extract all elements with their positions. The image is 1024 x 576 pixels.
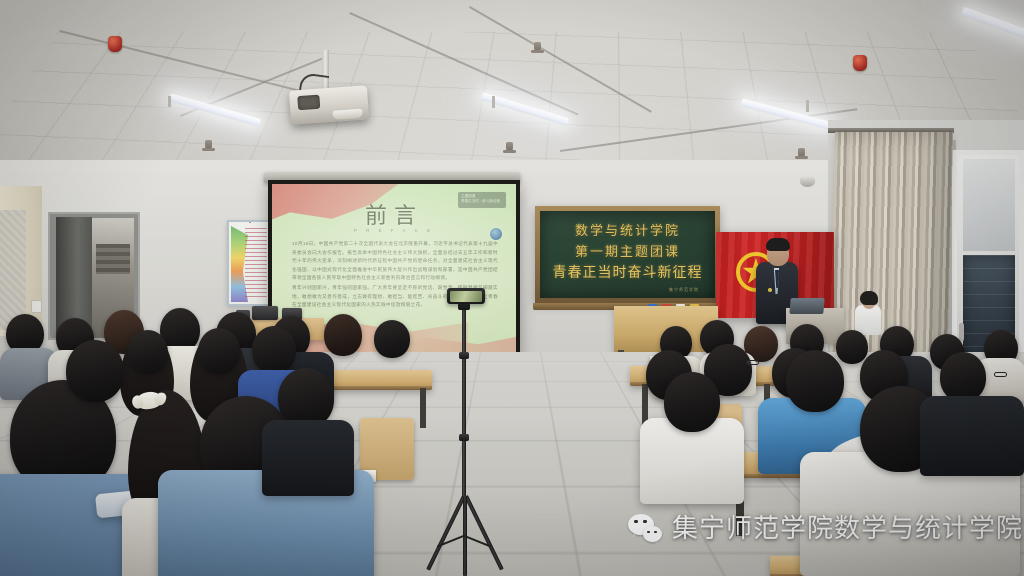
blackboard-surface: 数学与统计学院 第一期主题团课 青春正当时奋斗新征程 集宁师范学院 <box>540 211 715 298</box>
fire-alarm-icon-left <box>108 36 122 52</box>
light-hanger-2 <box>492 96 495 108</box>
sprinkler-icon-4 <box>798 148 805 159</box>
wechat-dot-1 <box>634 520 638 524</box>
security-camera-icon <box>800 176 815 187</box>
slide-tag-line2: 青春正当时 · 奋斗新征程 <box>461 199 503 204</box>
student-head-right-far-5 <box>836 330 868 364</box>
wechat-watermark: 集宁师范学院数学与统计学院 <box>628 508 1023 545</box>
slide-subtitle: P R E F A C E <box>272 228 516 233</box>
classroom-photo: 前言 P R E F A C E 10月16日，中国共产党第二十次全国代表大会在… <box>0 0 1024 576</box>
sprinkler-icon-3 <box>205 140 212 151</box>
blackboard: 数学与统计学院 第一期主题团课 青春正当时奋斗新征程 集宁师范学院 <box>535 206 720 303</box>
light-hanger-1 <box>168 96 171 107</box>
speaker-hair <box>766 238 790 251</box>
slide-corner-tag: 主题团课 青春正当时 · 奋斗新征程 <box>458 192 506 208</box>
tripod-pole <box>462 302 466 502</box>
student-head-blue-shirt <box>786 350 844 412</box>
assistant-torso <box>855 305 881 335</box>
wall-poster <box>227 220 271 306</box>
student-head-mid-2 <box>198 328 240 374</box>
slide-paragraph-1: 10月16日，中国共产党第二十次全国代表大会在北京隆重开幕，习近平总书记代表第十… <box>292 240 498 283</box>
assistant-hair <box>860 291 878 305</box>
light-hanger-3 <box>806 100 809 112</box>
phone-screen <box>450 291 482 302</box>
window-upper-pane <box>963 159 1015 251</box>
sprinkler-icon-1 <box>534 42 541 53</box>
wechat-dot-4 <box>654 531 657 534</box>
recording-phone[interactable] <box>447 288 485 304</box>
poster-text-lines <box>245 228 267 300</box>
student-head-near-left-2 <box>66 340 124 402</box>
tripod-knob-2[interactable] <box>459 434 469 441</box>
blackboard-corner-note: 集宁师范学院 <box>669 287 699 293</box>
student-head-mid-3 <box>252 326 296 374</box>
student-head-far-7 <box>324 314 362 356</box>
camera-equipment-1 <box>252 306 278 320</box>
wechat-dot-3 <box>647 531 650 534</box>
blackboard-line-1: 数学与统计学院 <box>540 220 715 239</box>
student-torso-near-left-3 <box>262 420 354 496</box>
poster-hook <box>249 220 251 223</box>
student-head-right-mid-5 <box>940 352 986 402</box>
speaker-badge-icon <box>768 288 772 292</box>
fire-alarm-icon-right <box>853 55 867 71</box>
student-head-far-8 <box>374 320 410 358</box>
wechat-bubble-small <box>643 526 662 542</box>
left-wall-texture-panel <box>0 210 26 330</box>
sprinkler-icon-2 <box>506 142 513 153</box>
student-head-near-left-3 <box>278 368 334 428</box>
laptop[interactable] <box>789 298 824 314</box>
student-torso-right-near-dark <box>920 396 1024 476</box>
slide-emblem-icon <box>490 228 502 240</box>
light-switch[interactable] <box>31 300 42 313</box>
window-handle[interactable] <box>959 323 964 341</box>
student-head-white-jacket <box>664 372 720 432</box>
blackboard-text: 数学与统计学院 第一期主题团课 青春正当时奋斗新征程 <box>540 220 715 282</box>
student-head-mid-1 <box>128 330 168 374</box>
desk-leg <box>420 388 426 428</box>
watermark-text: 集宁师范学院数学与统计学院 <box>672 508 1023 545</box>
blackboard-line-3: 青春正当时奋斗新征程 <box>540 262 715 282</box>
wechat-icon <box>628 512 662 542</box>
glasses-icon-1 <box>746 360 759 365</box>
wechat-dot-2 <box>643 520 647 524</box>
blackboard-line-2: 第一期主题团课 <box>540 241 715 260</box>
projector <box>289 85 369 124</box>
glasses-icon-2 <box>994 372 1007 377</box>
tripod-knob-1[interactable] <box>459 352 469 359</box>
